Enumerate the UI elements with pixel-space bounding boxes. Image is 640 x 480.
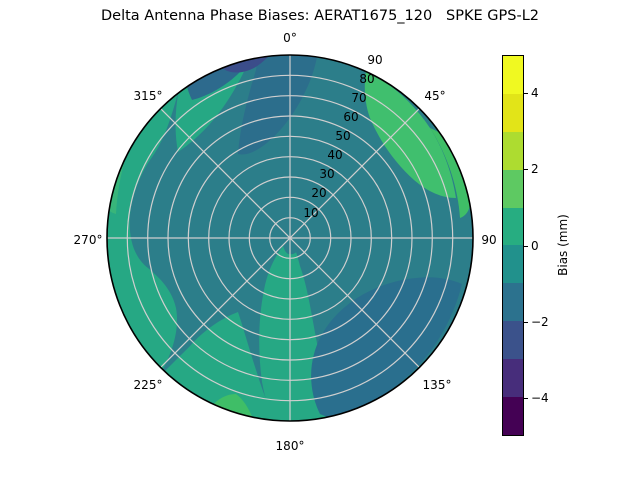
colorbar: 420−2−4 xyxy=(502,55,524,436)
colorbar-band-2 xyxy=(503,132,523,170)
colorbar-band-5 xyxy=(503,245,523,283)
angular-tick-180: 180° xyxy=(276,439,305,453)
radial-tick-60: 60 xyxy=(343,110,358,124)
colorbar-band-1 xyxy=(503,94,523,132)
colorbar-tick-label-2: 0 xyxy=(531,239,539,253)
colorbar-tick-mark-1 xyxy=(524,169,528,170)
colorbar-tick-mark-2 xyxy=(524,246,528,247)
radial-tick-40: 40 xyxy=(327,148,342,162)
radial-tick-20: 20 xyxy=(311,186,326,200)
colorbar-band-7 xyxy=(503,321,523,359)
colorbar-tick-mark-4 xyxy=(524,398,528,399)
angular-tick-315: 315° xyxy=(134,89,163,103)
angular-tick-270: 270° xyxy=(74,233,103,247)
angular-tick-225: 225° xyxy=(134,378,163,392)
radial-tick-80: 80 xyxy=(359,72,374,86)
radial-tick-90: 90 xyxy=(367,53,382,67)
angular-tick-45: 45° xyxy=(424,89,445,103)
radial-tick-50: 50 xyxy=(335,129,350,143)
colorbar-band-4 xyxy=(503,208,523,246)
angular-tick-90: 90 xyxy=(481,233,496,247)
polar-grid-spokes xyxy=(107,55,473,421)
figure-canvas: Delta Antenna Phase Biases: AERAT1675_12… xyxy=(0,0,640,480)
radial-tick-30: 30 xyxy=(319,167,334,181)
colorbar-band-8 xyxy=(503,359,523,397)
colorbar-tick-label-3: −2 xyxy=(531,315,549,329)
colorbar-band-3 xyxy=(503,170,523,208)
colorbar-tick-label-1: 2 xyxy=(531,162,539,176)
colorbar-tick-mark-0 xyxy=(524,93,528,94)
colorbar-band-6 xyxy=(503,283,523,321)
colorbar-axis-label: Bias (mm) xyxy=(556,214,570,276)
angular-tick-0: 0° xyxy=(283,31,297,45)
radial-tick-10: 10 xyxy=(303,206,318,220)
colorbar-tick-label-4: −4 xyxy=(531,391,549,405)
colorbar-band-0 xyxy=(503,56,523,94)
colorbar-band-9 xyxy=(503,397,523,435)
colorbar-gradient xyxy=(502,55,524,436)
colorbar-tick-mark-3 xyxy=(524,322,528,323)
colorbar-tick-label-0: 4 xyxy=(531,86,539,100)
radial-tick-70: 70 xyxy=(351,91,366,105)
angular-tick-135: 135° xyxy=(423,378,452,392)
